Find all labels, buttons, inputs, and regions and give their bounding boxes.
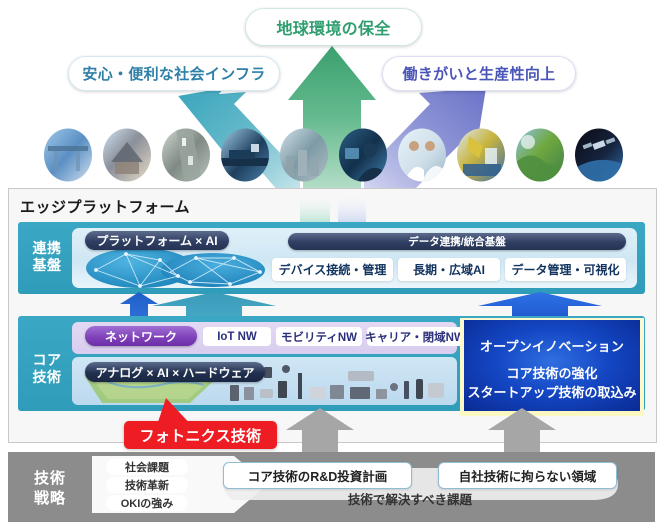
core-band-label: コア 技術: [24, 352, 70, 386]
data-integration-header-pill: データ連携/統合基盤: [288, 233, 626, 250]
data-item-data-management: データ管理・可視化: [505, 258, 626, 281]
open-innovation-line2: スタートアップ技術の取込み: [464, 383, 640, 402]
open-innovation-line1: コア技術の強化: [464, 364, 640, 383]
network-item-carrier-closed-nw: キャリア・閉域NW: [367, 327, 463, 346]
network-item-mobility-nw: モビリティNW: [276, 327, 362, 346]
strategy-chip-oki-strength: OKIの強み: [106, 495, 188, 511]
network-item-iot-nw: IoT NW: [203, 327, 271, 346]
goal-label: 働きがいと生産性向上: [402, 63, 555, 84]
strategy-card-external-tech: 自社技術に拘らない領域: [438, 462, 617, 489]
goal-label: 地球環境の保全: [276, 15, 390, 39]
photonics-callout-pointer: [150, 396, 210, 428]
analog-ai-hardware-pill: アナログ × AI × ハードウェア: [85, 362, 265, 382]
strategy-issue-label: 技術で解決すべき課題: [230, 489, 590, 508]
strategy-chip-social-issue: 社会課題: [106, 459, 188, 475]
platform-ai-pill: プラットフォーム × AI: [85, 231, 229, 250]
core-band-label-line1: コア: [24, 352, 70, 369]
goal-pill-social-infrastructure: 安心・便利な社会インフラ: [68, 56, 280, 91]
network-mesh-graphic: [82, 246, 272, 290]
core-band-label-line2: 技術: [24, 369, 70, 386]
collaboration-band-label: 連携 基盤: [24, 240, 70, 274]
technology-strategy-label-line2: 戦略: [22, 489, 78, 509]
goal-pill-productivity: 働きがいと生産性向上: [382, 56, 576, 91]
card-upflow-glow: [0, 170, 663, 230]
strategy-card-rd-investment: コア技術のR&D投資計画: [223, 462, 412, 489]
data-item-wide-area-ai: 長期・広域AI: [398, 258, 500, 281]
collaboration-band-label-line1: 連携: [24, 240, 70, 257]
technology-strategy-label: 技術 戦略: [22, 469, 78, 509]
technology-strategy-label-line1: 技術: [22, 469, 78, 489]
data-item-device-connection: デバイス接続・管理: [272, 258, 393, 281]
open-innovation-subtitle: コア技術の強化 スタートアップ技術の取込み: [464, 364, 640, 402]
network-pill: ネットワーク: [85, 326, 197, 346]
strategy-chip-tech-innovation: 技術革新: [106, 477, 188, 493]
goal-pill-environment: 地球環境の保全: [245, 8, 422, 46]
collaboration-band-label-line2: 基盤: [24, 257, 70, 274]
open-innovation-title: オープンイノベーション: [464, 336, 640, 355]
goal-label: 安心・便利な社会インフラ: [82, 63, 265, 84]
